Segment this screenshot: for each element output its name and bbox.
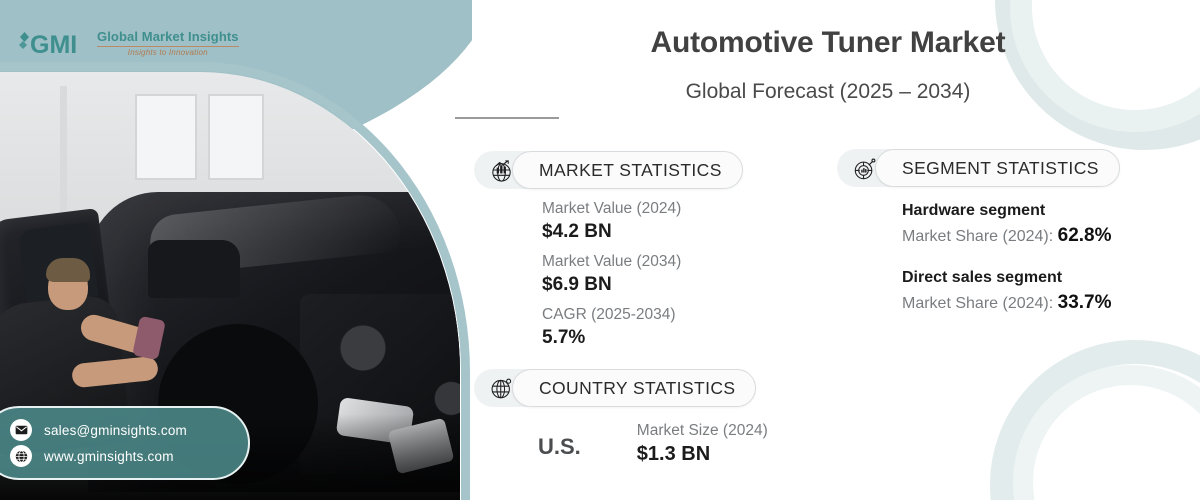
gmi-logo[interactable]: GMI Global Market Insights Insights to I… bbox=[16, 26, 239, 60]
market-statistics-list: Market Value (2024) $4.2 BN Market Value… bbox=[542, 198, 681, 357]
garage-window-left bbox=[135, 94, 197, 180]
contact-website-text: www.gminsights.com bbox=[44, 449, 174, 464]
country-name: U.S. bbox=[538, 420, 581, 460]
contact-website-row[interactable]: www.gminsights.com bbox=[10, 445, 234, 467]
market-statistics-label: MARKET STATISTICS bbox=[512, 151, 743, 189]
logo-tagline: Insights to Innovation bbox=[97, 49, 239, 57]
segment-item-title: Direct sales segment bbox=[902, 266, 1112, 290]
contact-badge: sales@gminsights.com www.gminsights.com bbox=[0, 406, 250, 480]
logo-divider bbox=[97, 46, 239, 47]
contact-email-text: sales@gminsights.com bbox=[44, 423, 187, 438]
infographic-canvas: GMI Global Market Insights Insights to I… bbox=[0, 0, 1200, 500]
logo-company-name: Global Market Insights bbox=[97, 30, 239, 43]
title-divider bbox=[455, 117, 559, 119]
car-cabin-glass bbox=[148, 240, 240, 298]
contact-email-row[interactable]: sales@gminsights.com bbox=[10, 419, 234, 441]
technician-hair bbox=[46, 258, 90, 282]
page-title: Automotive Tuner Market bbox=[458, 26, 1198, 60]
segment-item-label: Market Share (2024): bbox=[902, 295, 1058, 312]
segment-item: Direct sales segment Market Share (2024)… bbox=[902, 266, 1112, 317]
segment-statistics-list: Hardware segment Market Share (2024): 62… bbox=[902, 199, 1112, 333]
segment-item-label: Market Share (2024): bbox=[902, 228, 1058, 245]
segment-statistics-badge[interactable]: SEGMENT STATISTICS bbox=[837, 149, 1120, 187]
market-stat-label: Market Value (2024) bbox=[542, 198, 681, 220]
segment-item: Hardware segment Market Share (2024): 62… bbox=[902, 199, 1112, 250]
market-stat-value: $6.9 BN bbox=[542, 273, 681, 297]
market-stat-row: Market Value (2034) $6.9 BN bbox=[542, 251, 681, 297]
segment-statistics-label: SEGMENT STATISTICS bbox=[875, 149, 1120, 187]
country-stat-value: $1.3 BN bbox=[637, 442, 768, 466]
market-stat-label: Market Value (2034) bbox=[542, 251, 681, 273]
country-statistics-content: U.S. Market Size (2024) $1.3 BN bbox=[538, 420, 768, 473]
svg-text:GMI: GMI bbox=[30, 31, 77, 59]
country-stat-label: Market Size (2024) bbox=[637, 420, 768, 442]
page-subtitle: Global Forecast (2025 – 2034) bbox=[458, 80, 1198, 104]
market-statistics-badge[interactable]: MARKET STATISTICS bbox=[474, 151, 743, 189]
segment-item-share: Market Share (2024): 62.8% bbox=[902, 223, 1112, 250]
segment-item-share: Market Share (2024): 33.7% bbox=[902, 290, 1112, 317]
market-stat-value: $4.2 BN bbox=[542, 220, 681, 244]
country-market-size: Market Size (2024) $1.3 BN bbox=[637, 420, 768, 473]
country-statistics-label: COUNTRY STATISTICS bbox=[512, 369, 756, 407]
market-stat-value: 5.7% bbox=[542, 326, 681, 350]
market-stat-label: CAGR (2025-2034) bbox=[542, 304, 681, 326]
market-stat-row: Market Value (2024) $4.2 BN bbox=[542, 198, 681, 244]
segment-item-title: Hardware segment bbox=[902, 199, 1112, 223]
market-stat-row: CAGR (2025-2034) 5.7% bbox=[542, 304, 681, 350]
garage-window-right bbox=[208, 94, 264, 180]
gmi-logo-mark: GMI bbox=[16, 26, 90, 60]
country-statistics-badge[interactable]: COUNTRY STATISTICS bbox=[474, 369, 756, 407]
envelope-icon bbox=[10, 419, 32, 441]
globe-icon bbox=[10, 445, 32, 467]
content-area: Automotive Tuner Market Global Forecast … bbox=[452, 0, 1200, 500]
segment-item-value: 33.7% bbox=[1058, 292, 1112, 313]
segment-item-value: 62.8% bbox=[1058, 225, 1112, 246]
